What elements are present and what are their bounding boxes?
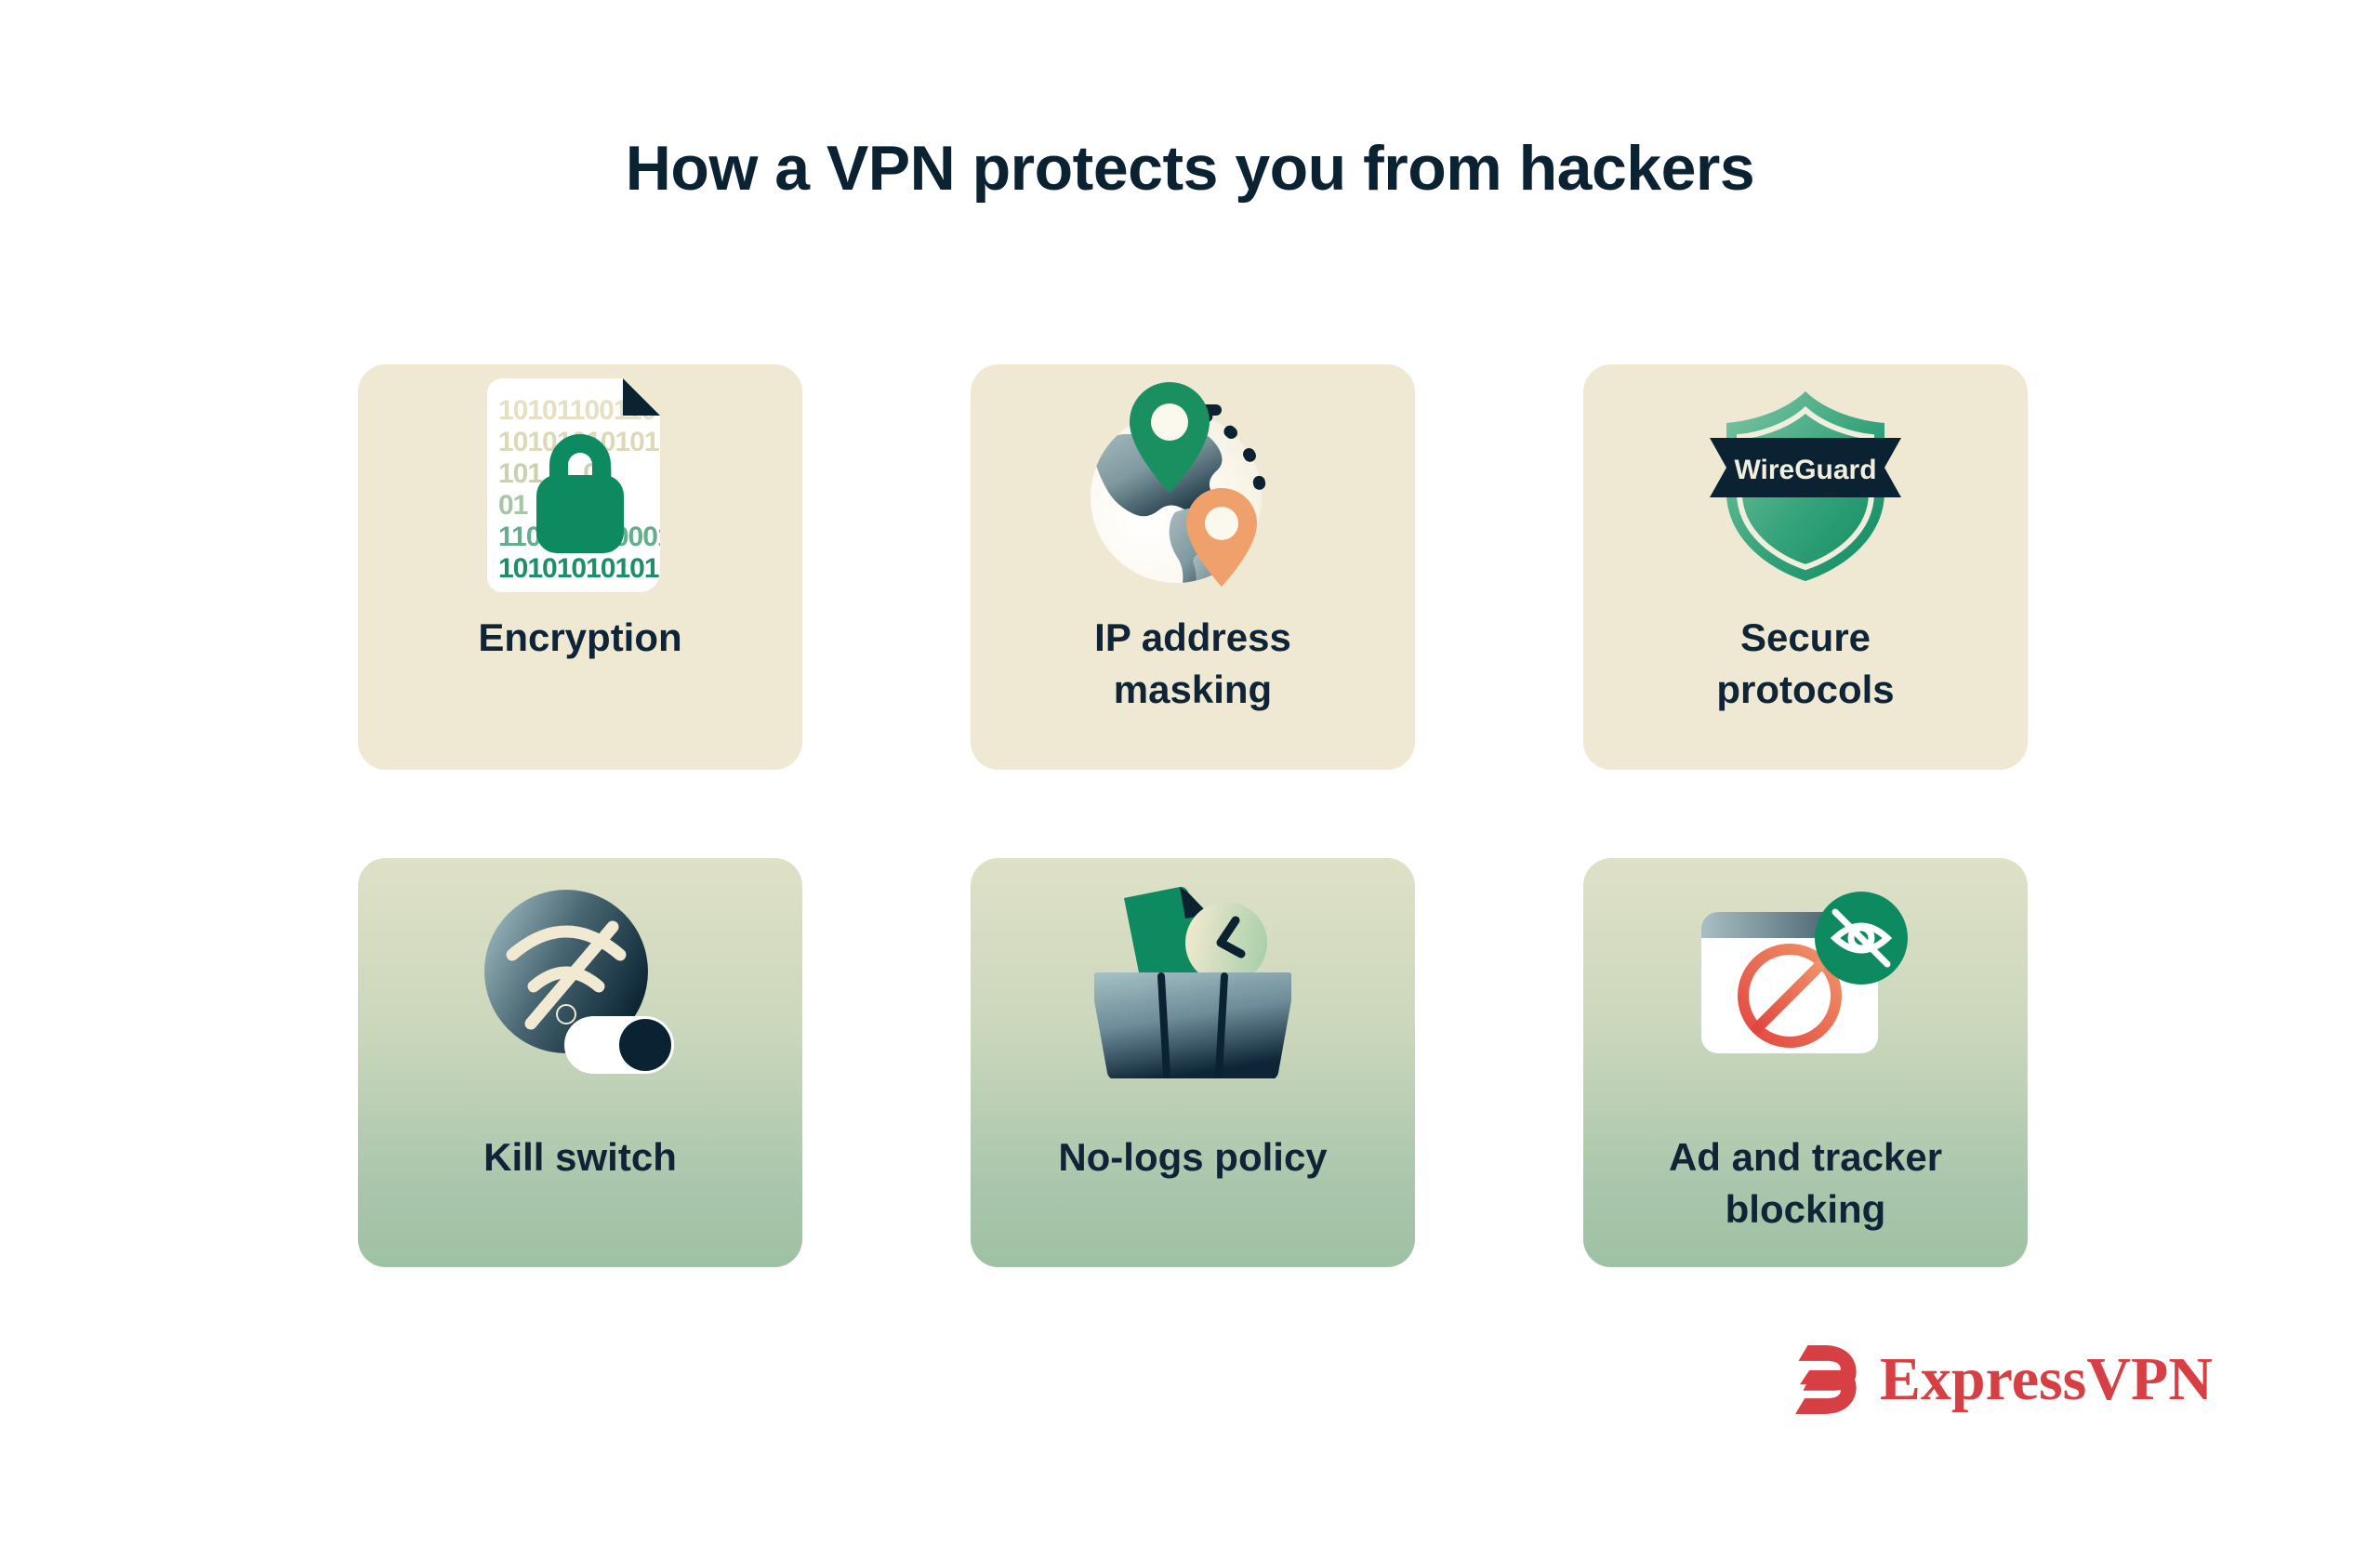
toggle-knob [619, 1019, 671, 1071]
no-logs-art [971, 858, 1415, 1107]
feature-card-ip-address-masking[interactable]: IP address masking [971, 364, 1415, 770]
trash-bin [1094, 972, 1291, 1078]
encryption-art: 10101100110 10101010101 101 00 01 01 110… [358, 364, 802, 608]
secure-protocols-art: WireGuard [1583, 364, 2028, 608]
globe-location-pins-icon [1086, 377, 1300, 596]
feature-card-no-logs-policy[interactable]: No-logs policy [971, 858, 1415, 1267]
expressvpn-e-mark [1781, 1341, 1859, 1419]
card-label: Encryption [427, 612, 734, 664]
trash-bin-document-clock-icon [1094, 887, 1291, 1078]
brand-logo: ExpressVPN [1781, 1341, 2213, 1419]
card-label: No-logs policy [1039, 1131, 1346, 1183]
feature-card-encryption[interactable]: 10101100110 10101010101 101 00 01 01 110… [358, 364, 802, 770]
card-label: Kill switch [427, 1131, 734, 1183]
feature-card-grid: 10101100110 10101010101 101 00 01 01 110… [358, 364, 2028, 1267]
svg-text:10101010101: 10101010101 [498, 553, 659, 584]
kill-switch-art [358, 858, 802, 1107]
wireguard-shield-icon: WireGuard [1699, 388, 1912, 585]
feature-card-kill-switch[interactable]: Kill switch [358, 858, 802, 1267]
ad-blocking-art [1583, 858, 2028, 1107]
card-label: Ad and tracker blocking [1652, 1131, 1959, 1236]
brand-name: ExpressVPN [1880, 1349, 2213, 1410]
feature-card-ad-tracker-blocking[interactable]: Ad and tracker blocking [1583, 858, 2028, 1267]
card-label: IP address masking [1039, 612, 1346, 716]
wifi-off-toggle-icon [483, 888, 678, 1078]
feature-card-secure-protocols[interactable]: WireGuard Secure protocols [1583, 364, 2028, 770]
card-label: Secure protocols [1652, 612, 1959, 716]
page-title: How a VPN protects you from hackers [0, 132, 2380, 205]
wireguard-banner-label: WireGuard [1734, 455, 1876, 485]
ip-masking-art [971, 364, 1415, 608]
eye-off-badge-icon [1815, 892, 1908, 985]
encrypted-document-icon: 10101100110 10101010101 101 00 01 01 110… [487, 378, 673, 594]
browser-blocked-eye-icon [1701, 892, 1910, 1074]
toggle-switch [564, 1016, 674, 1074]
